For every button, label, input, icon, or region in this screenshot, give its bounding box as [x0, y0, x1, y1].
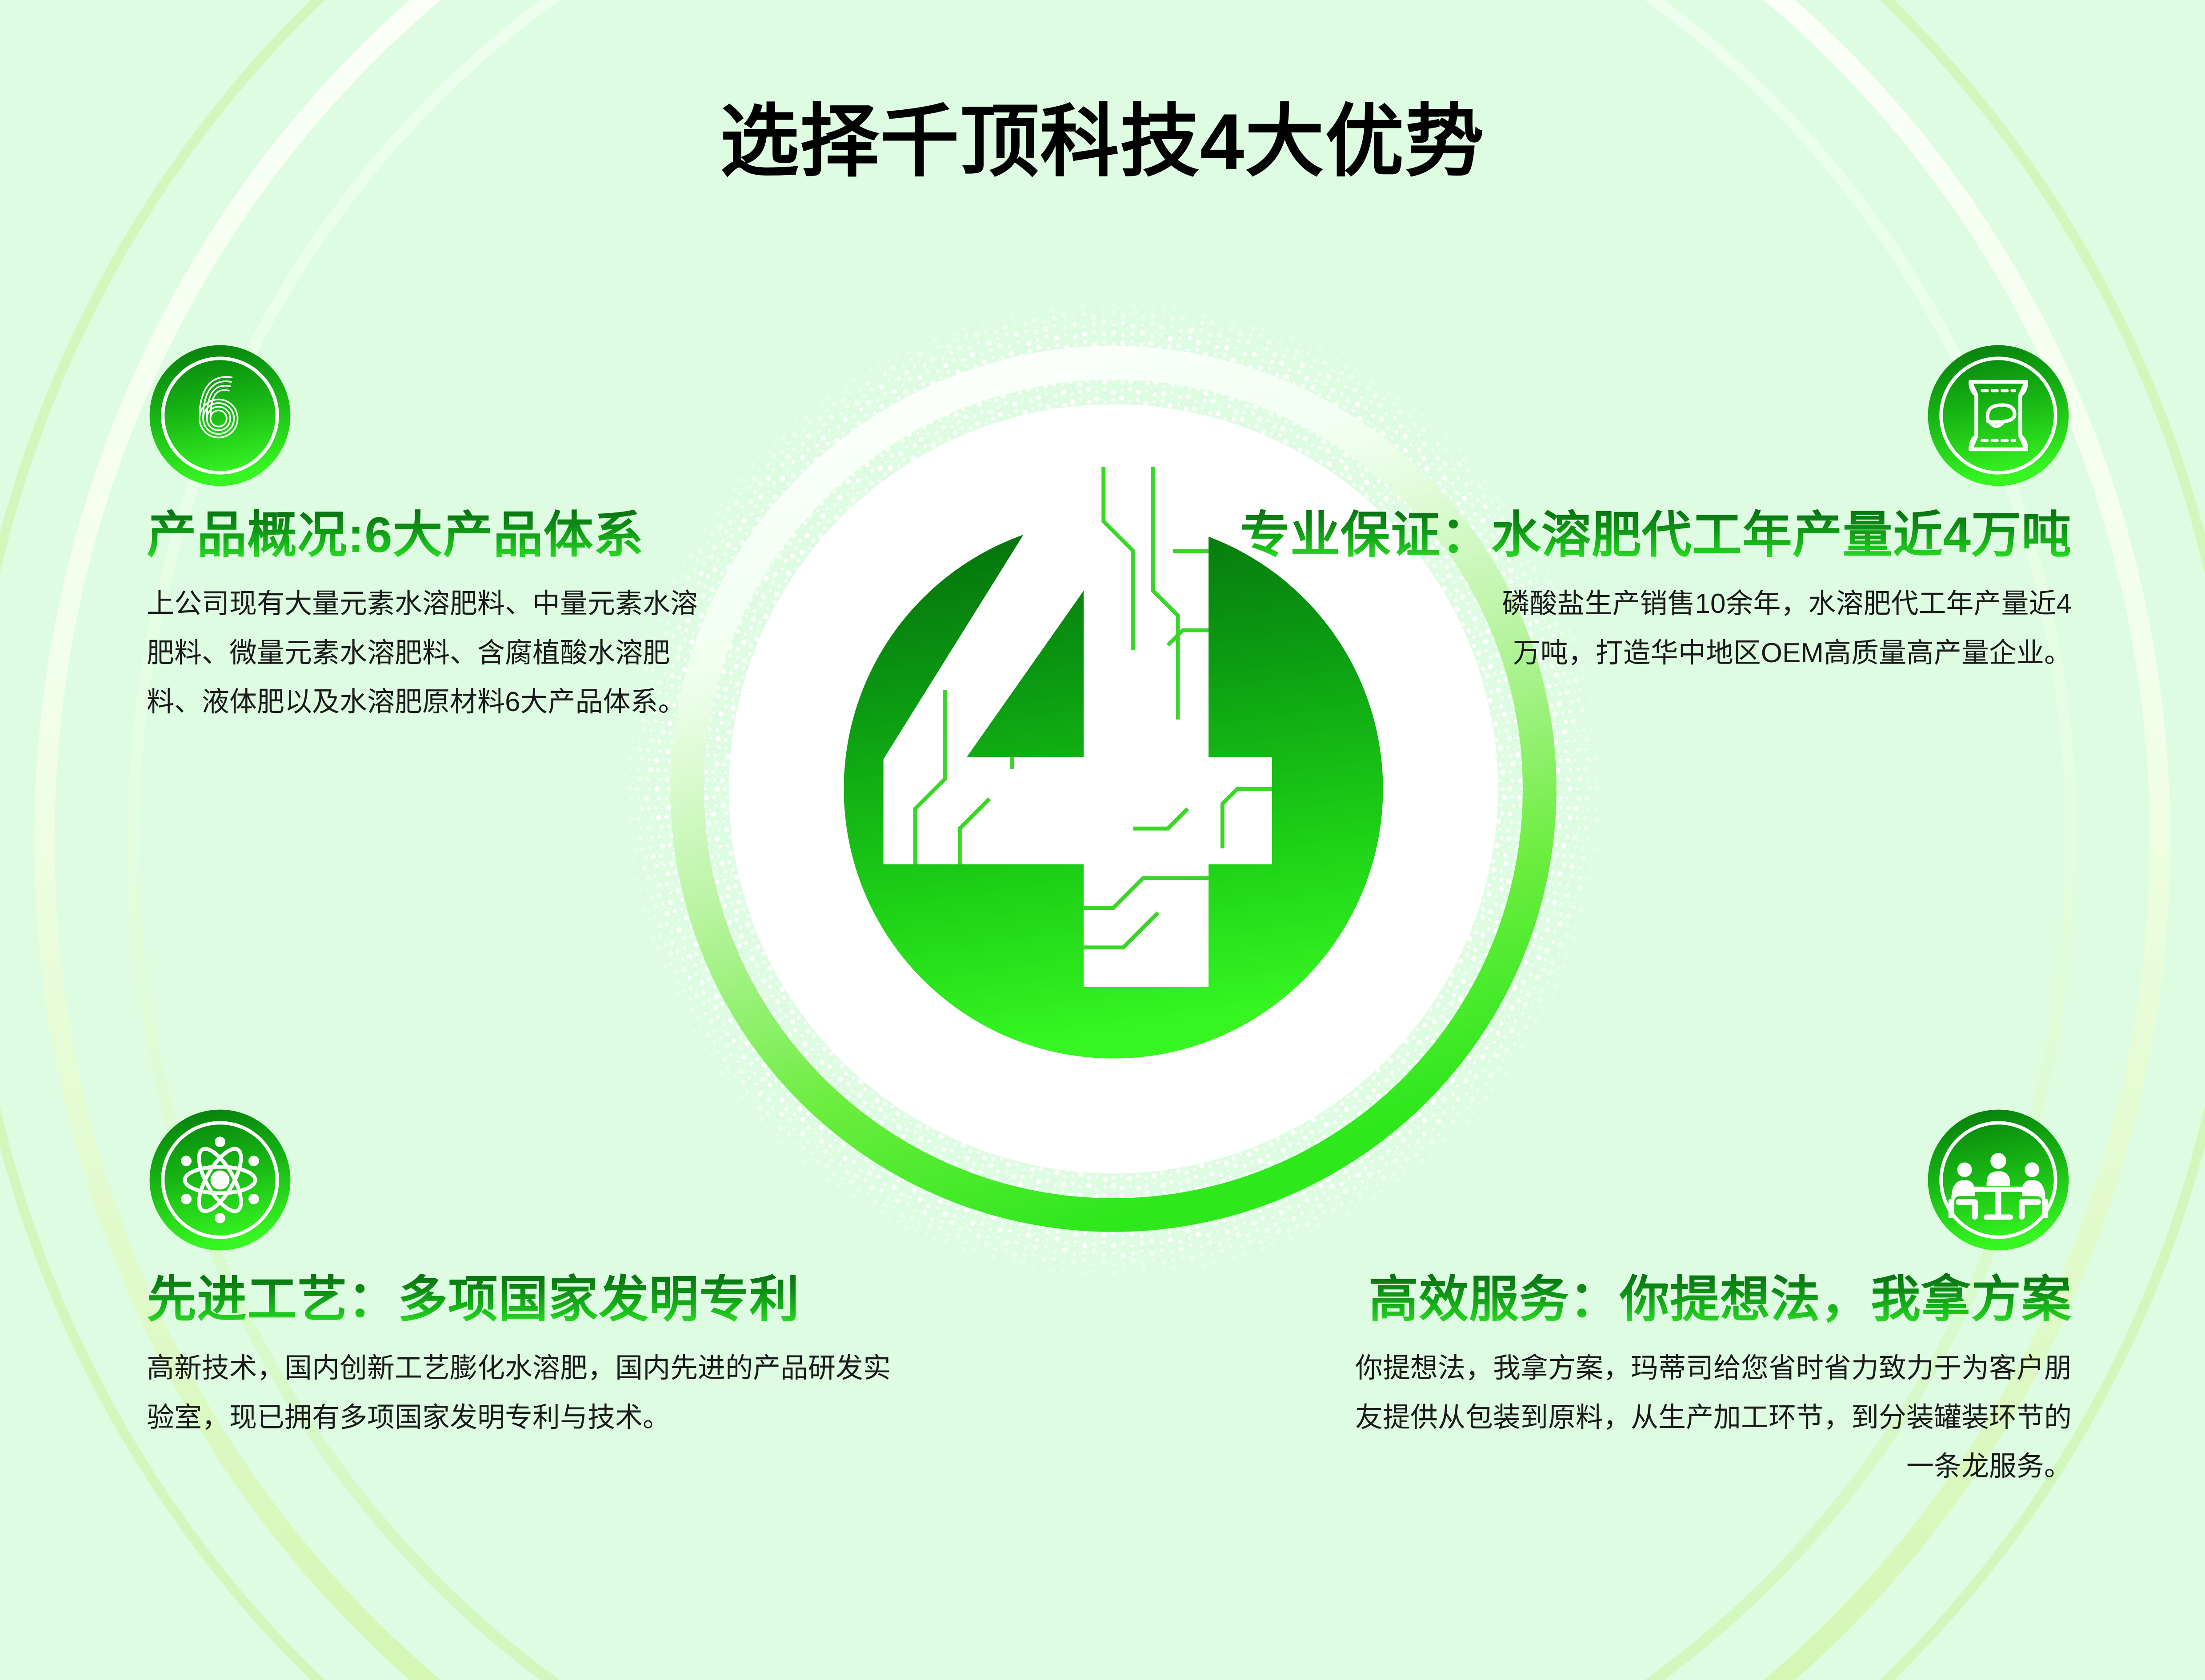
advantage-body: 高新技术，国内创新工艺膨化水溶肥，国内先进的产品研发实验室，现已拥有多项国家发明…: [147, 1344, 902, 1442]
advantage-heading: 产品概况:6大产品体系: [147, 506, 644, 564]
advantage-card-product-overview: 产品概况:6大产品体系 上公司现有大量元素水溶肥料、中量元素水溶肥料、微量元素水…: [147, 342, 724, 727]
advantage-heading: 高效服务：你提想法，我拿方案: [1369, 1270, 2072, 1329]
advantage-card-professional-guarantee: 专业保证：水溶肥代工年产量近4万吨 磷酸盐生产销售10余年，水溶肥代工年产量近4…: [1476, 342, 2072, 678]
advantage-body: 你提想法，我拿方案，玛蒂司给您省时省力致力于为客户朋友提供从包装到原料，从生产加…: [1343, 1344, 2072, 1491]
infographic-poster: 选择千顶科技4大优势: [0, 0, 2205, 1680]
page-title: 选择千顶科技4大优势: [0, 102, 2205, 181]
advantage-card-advanced-technology: 先进工艺：多项国家发明专利 高新技术，国内创新工艺膨化水溶肥，国内先进的产品研发…: [147, 1107, 902, 1442]
number-six-badge-icon: [147, 342, 293, 489]
meeting-people-icon: [1925, 1107, 2072, 1253]
advantage-body: 上公司现有大量元素水溶肥料、中量元素水溶肥料、微量元素水溶肥料、含腐植酸水溶肥料…: [147, 580, 720, 727]
advantage-body: 磷酸盐生产销售10余年，水溶肥代工年产量近4万吨，打造华中地区OEM高质量高产量…: [1485, 580, 2072, 678]
advantage-card-efficient-service: 高效服务：你提想法，我拿方案 你提想法，我拿方案，玛蒂司给您省时省力致力于为客户…: [1334, 1107, 2072, 1491]
atom-icon: [147, 1107, 293, 1253]
advantage-heading: 专业保证：水溶肥代工年产量近4万吨: [1240, 506, 2072, 564]
fertilizer-bag-icon: [1925, 342, 2072, 489]
advantage-heading: 先进工艺：多项国家发明专利: [147, 1270, 800, 1329]
